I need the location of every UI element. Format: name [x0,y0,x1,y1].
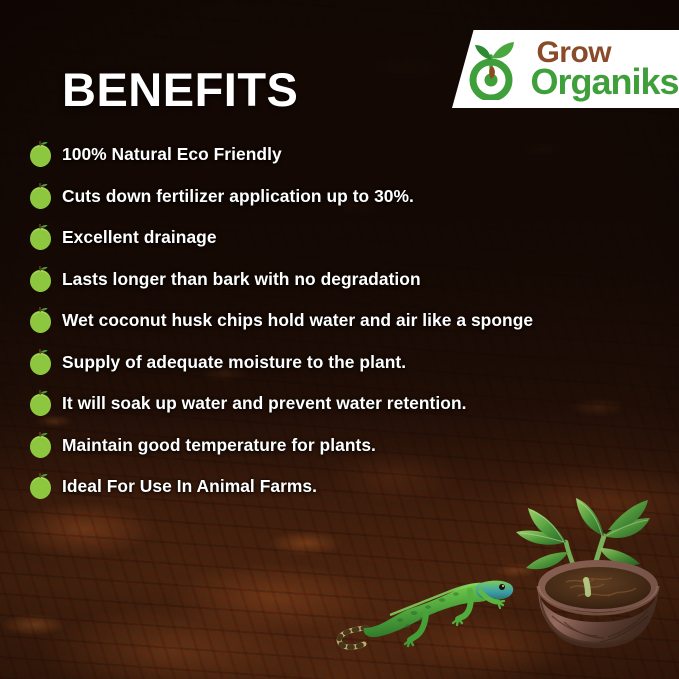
green-apple-bullet-icon [28,141,53,168]
green-apple-bullet-icon [28,390,53,417]
brand-logo-banner: Grow Organiks [452,30,679,108]
benefit-item-3: Lasts longer than bark with no degradati… [28,259,663,301]
list-item-label: Lasts longer than bark with no degradati… [62,269,421,290]
logo-word-organiks: Organiks [530,67,678,98]
benefit-item-1: Cuts down fertilizer application up to 3… [28,176,663,218]
green-lizard-photo [330,558,516,654]
benefit-item-5: Supply of adequate moisture to the plant… [28,342,663,384]
page-title: BENEFITS [62,62,298,117]
green-apple-bullet-icon [28,473,53,500]
benefit-item-0: 100% Natural Eco Friendly [28,134,663,176]
green-apple-bullet-icon [28,224,53,251]
benefits-list: 100% Natural Eco Friendly Cuts down fert… [28,134,663,508]
green-apple-bullet-icon [28,183,53,210]
green-apple-bullet-icon [28,432,53,459]
benefits-poster: BENEFITS Grow Organiks 100% Na [0,0,679,679]
list-item-label: Maintain good temperature for plants. [62,435,376,456]
list-item-label: Ideal For Use In Animal Farms. [62,476,317,497]
list-item-label: 100% Natural Eco Friendly [62,144,282,165]
list-item-label: Excellent drainage [62,227,217,248]
benefit-item-4: Wet coconut husk chips hold water and ai… [28,300,663,342]
benefit-item-2: Excellent drainage [28,217,663,259]
benefit-item-8: Ideal For Use In Animal Farms. [28,466,663,508]
list-item-label: Supply of adequate moisture to the plant… [62,352,406,373]
green-apple-bullet-icon [28,266,53,293]
list-item-label: It will soak up water and prevent water … [62,393,467,414]
benefit-item-7: Maintain good temperature for plants. [28,425,663,467]
sprout-in-circle-icon [464,38,522,100]
list-item-label: Cuts down fertilizer application up to 3… [62,186,414,207]
green-apple-bullet-icon [28,307,53,334]
list-item-label: Wet coconut husk chips hold water and ai… [62,310,533,331]
potted-seedling-photo [508,496,679,679]
green-apple-bullet-icon [28,349,53,376]
benefit-item-6: It will soak up water and prevent water … [28,383,663,425]
